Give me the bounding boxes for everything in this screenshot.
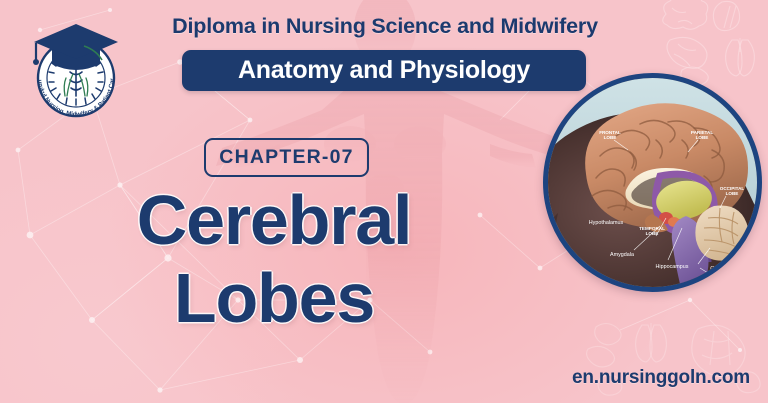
label-hypothalamus: Hypothalamus bbox=[589, 220, 624, 226]
organ-line-art-top-right bbox=[652, 0, 768, 86]
program-title: Diploma in Nursing Science and Midwifery bbox=[150, 14, 620, 39]
chapter-badge: CHAPTER-07 bbox=[204, 138, 369, 177]
subject-banner: Anatomy and Physiology bbox=[182, 50, 586, 91]
gurukul-nursing-logo: Gurukul Nursing Gurukul Nursing, Midwife… bbox=[22, 16, 130, 124]
brain-sagittal-section-illustration: FRONTAL LOBE PARIETAL LOBE TEMPORAL LOBE… bbox=[548, 78, 757, 287]
brain-figure: FRONTAL LOBE PARIETAL LOBE TEMPORAL LOBE… bbox=[543, 73, 762, 292]
label-frontal-lobe-2: LOBE bbox=[604, 135, 617, 140]
footer-website-url: en.nursinggoln.com bbox=[572, 367, 750, 389]
label-parietal-lobe-2: LOBE bbox=[696, 135, 709, 140]
page-title: Cerebral Lobes bbox=[24, 187, 524, 331]
subject-banner-label: Anatomy and Physiology bbox=[238, 56, 530, 85]
page-title-line-1: Cerebral bbox=[24, 187, 524, 254]
label-occipital-lobe-2: LOBE bbox=[726, 191, 739, 196]
label-hippocampus: Hippocampus bbox=[656, 264, 689, 270]
chapter-badge-label: CHAPTER-07 bbox=[219, 146, 353, 169]
poster-canvas: Gurukul Nursing Gurukul Nursing, Midwife… bbox=[0, 0, 768, 403]
label-amygdala: Amygdala bbox=[610, 252, 634, 258]
organ-line-art-bottom-right bbox=[578, 315, 768, 403]
label-temporal-lobe-2: LOBE bbox=[646, 231, 659, 236]
page-title-line-2: Lobes bbox=[24, 265, 524, 332]
